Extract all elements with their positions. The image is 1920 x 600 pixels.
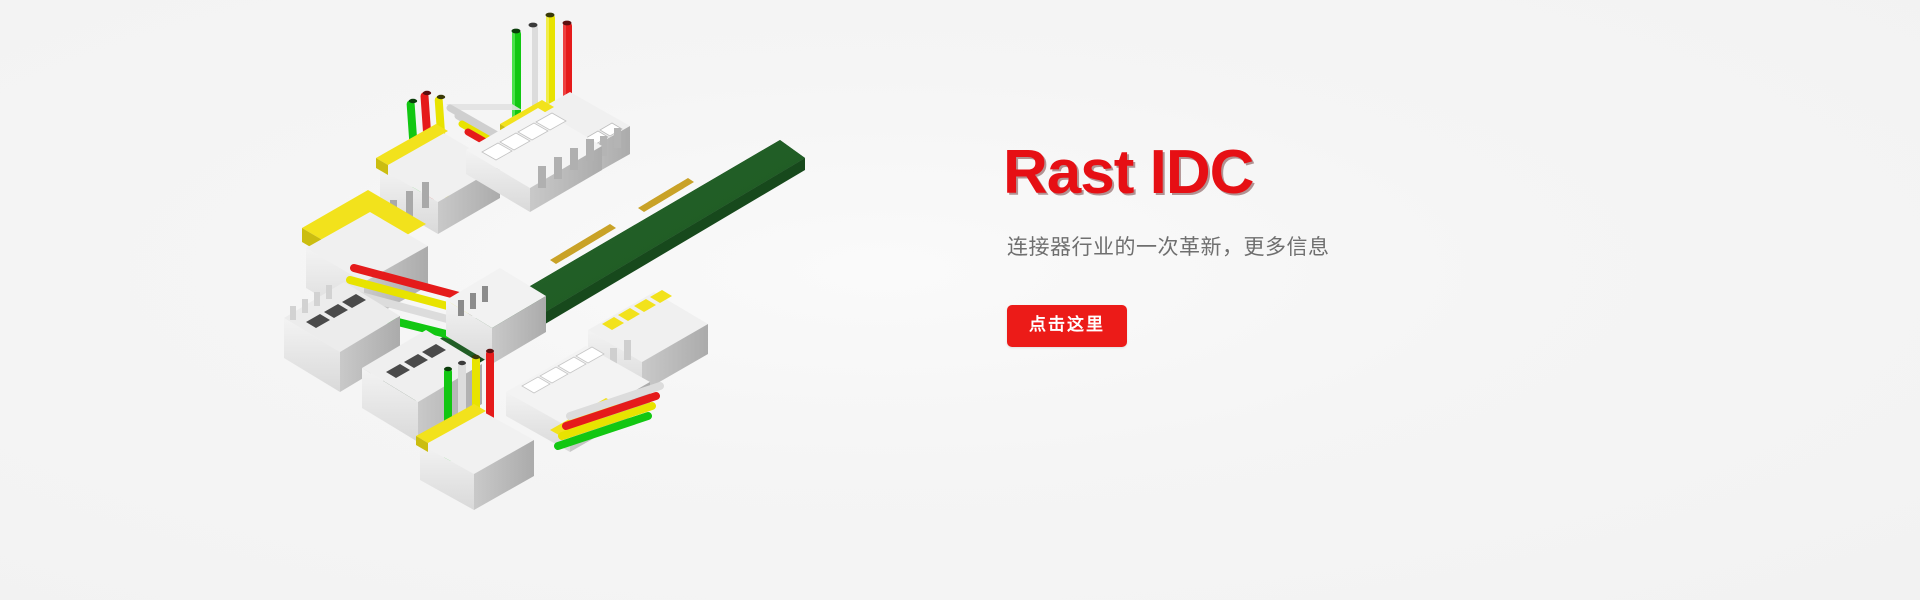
hero-subtitle: 连接器行业的一次革新，更多信息: [1007, 232, 1623, 264]
page-title: Rast IDC: [1003, 140, 1623, 206]
cta-container: 点击这里: [1007, 305, 1623, 346]
click-here-button[interactable]: 点击这里: [1007, 305, 1127, 346]
hero-banner: Rast IDC 连接器行业的一次革新，更多信息 点击这里: [0, 0, 1920, 600]
hero-copy: Rast IDC 连接器行业的一次革新，更多信息 点击这里: [1003, 140, 1623, 347]
product-render: [250, 0, 830, 600]
